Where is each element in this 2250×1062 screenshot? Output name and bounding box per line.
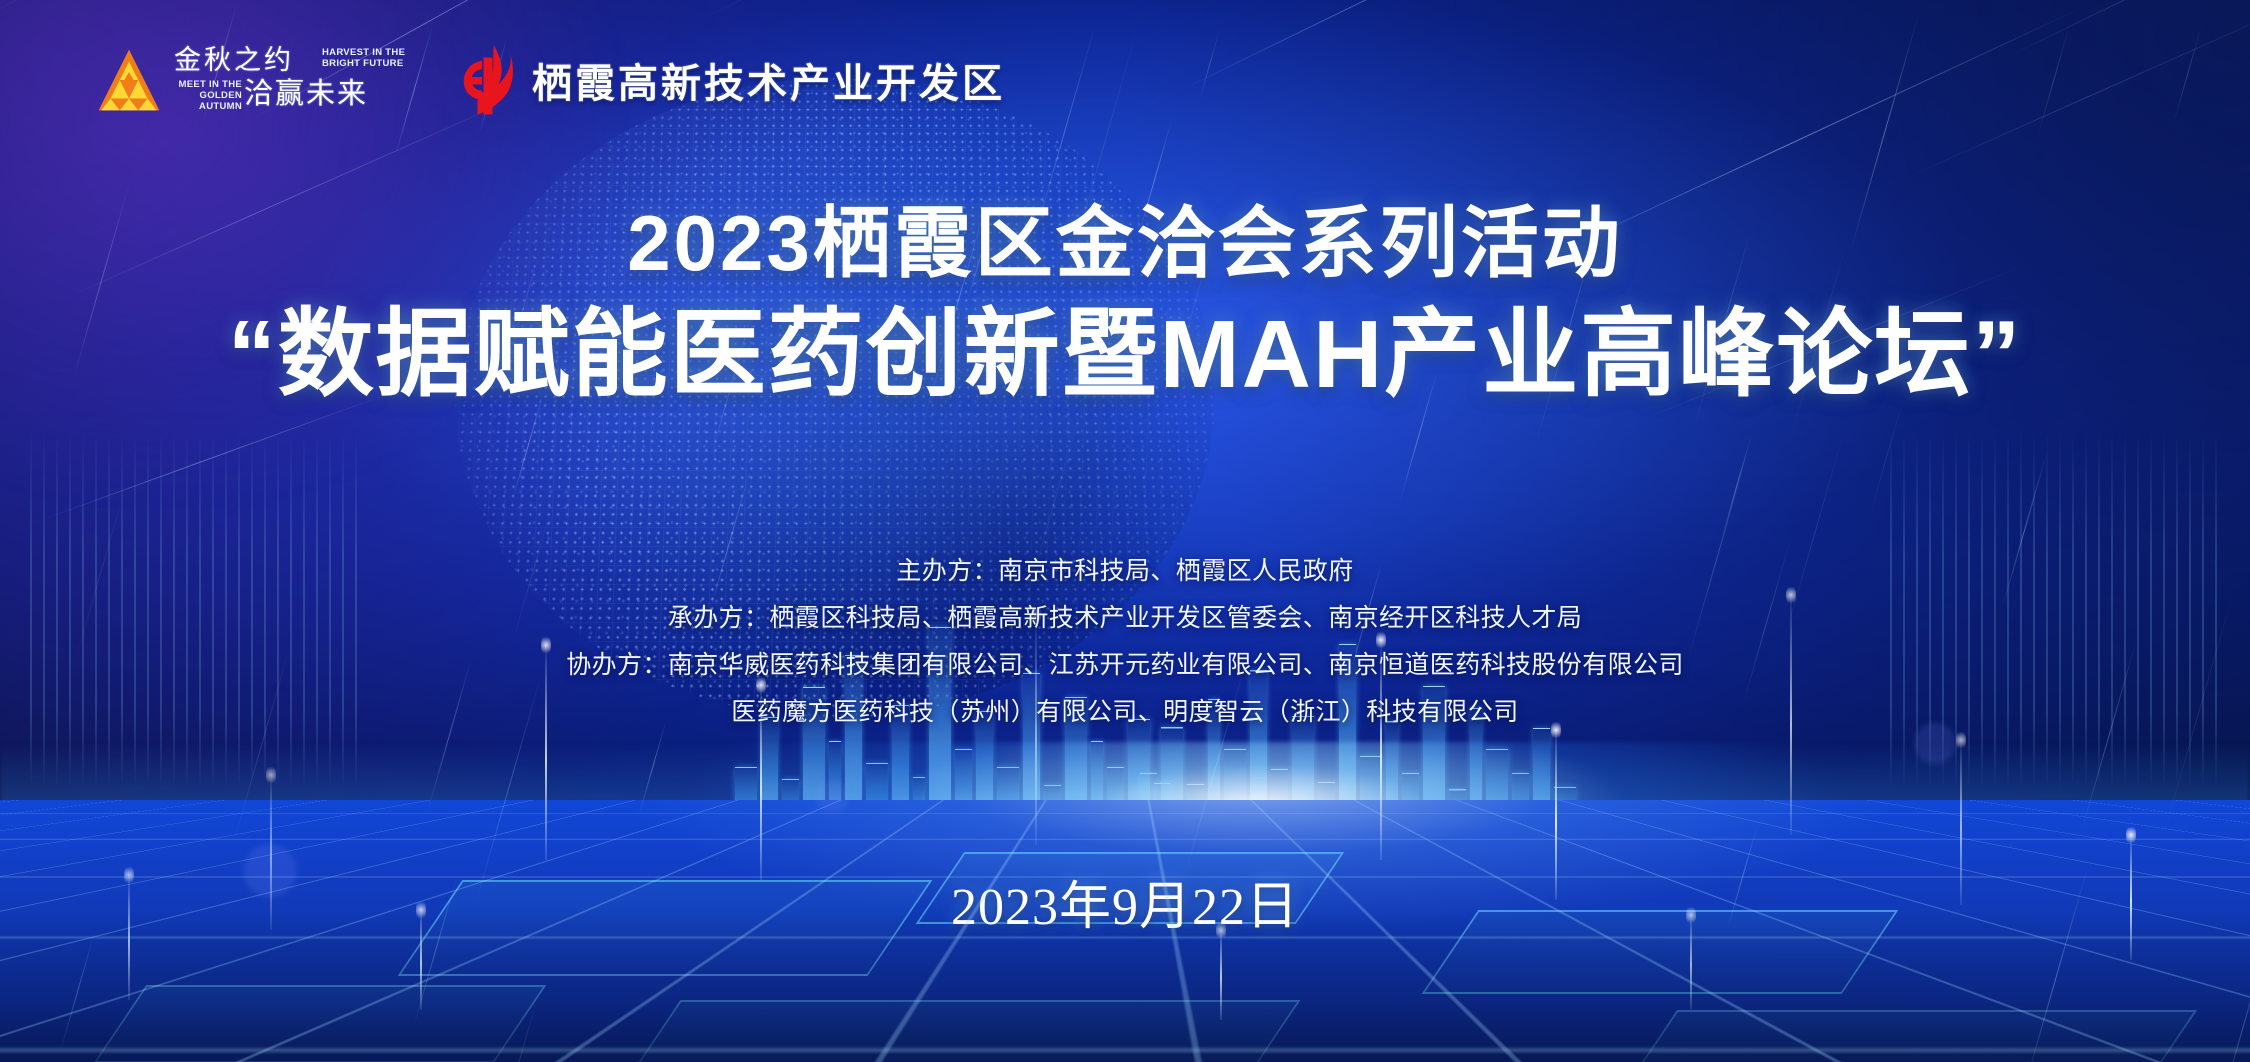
organizer-info: 主办方：南京市科技局、栖霞区人民政府 承办方：栖霞区科技局、栖霞高新技术产业开发… bbox=[0, 548, 2250, 736]
flame-cip-mark bbox=[454, 44, 516, 116]
golden-autumn-en-line1: HARVEST IN THE BRIGHT FUTURE bbox=[322, 47, 412, 69]
main-title-block: 2023栖霞区金洽会系列活动 “数据赋能医药创新暨MAH产业高峰论坛” bbox=[0, 196, 2250, 414]
golden-autumn-cn-line1: 金秋之约 bbox=[174, 45, 294, 75]
triangle-pyramid-mark bbox=[96, 47, 162, 113]
golden-autumn-en-line2: MEET IN THE GOLDEN AUTUMN bbox=[174, 79, 242, 112]
qixia-zone-title: 栖霞高新技术产业开发区 bbox=[532, 51, 1005, 109]
title-line-2: “数据赋能医药创新暨MAH产业高峰论坛” bbox=[0, 296, 2250, 414]
golden-autumn-wordmark: 金秋之约 HARVEST IN THE BRIGHT FUTURE MEET I… bbox=[172, 45, 412, 115]
golden-autumn-logo: 金秋之约 HARVEST IN THE BRIGHT FUTURE MEET I… bbox=[96, 45, 412, 115]
organizer-line-host: 主办方：南京市科技局、栖霞区人民政府 bbox=[0, 548, 2250, 595]
header-logos: 金秋之约 HARVEST IN THE BRIGHT FUTURE MEET I… bbox=[96, 44, 1005, 116]
title-line-1: 2023栖霞区金洽会系列活动 bbox=[0, 196, 2250, 290]
golden-autumn-cn-line2: 洽赢未来 bbox=[244, 78, 368, 110]
event-poster: 金秋之约 HARVEST IN THE BRIGHT FUTURE MEET I… bbox=[0, 0, 2250, 1062]
organizer-line-coorg-1: 协办方：南京华威医药科技集团有限公司、江苏开元药业有限公司、南京恒道医药科技股份… bbox=[0, 642, 2250, 689]
event-date: 2023年9月22日 bbox=[0, 877, 2250, 939]
organizer-line-organizer: 承办方：栖霞区科技局、栖霞高新技术产业开发区管委会、南京经开区科技人才局 bbox=[0, 595, 2250, 642]
qixia-zone-logo: 栖霞高新技术产业开发区 bbox=[454, 44, 1005, 116]
organizer-line-coorg-2: 医药魔方医药科技（苏州）有限公司、明度智云（浙江）科技有限公司 bbox=[0, 689, 2250, 736]
